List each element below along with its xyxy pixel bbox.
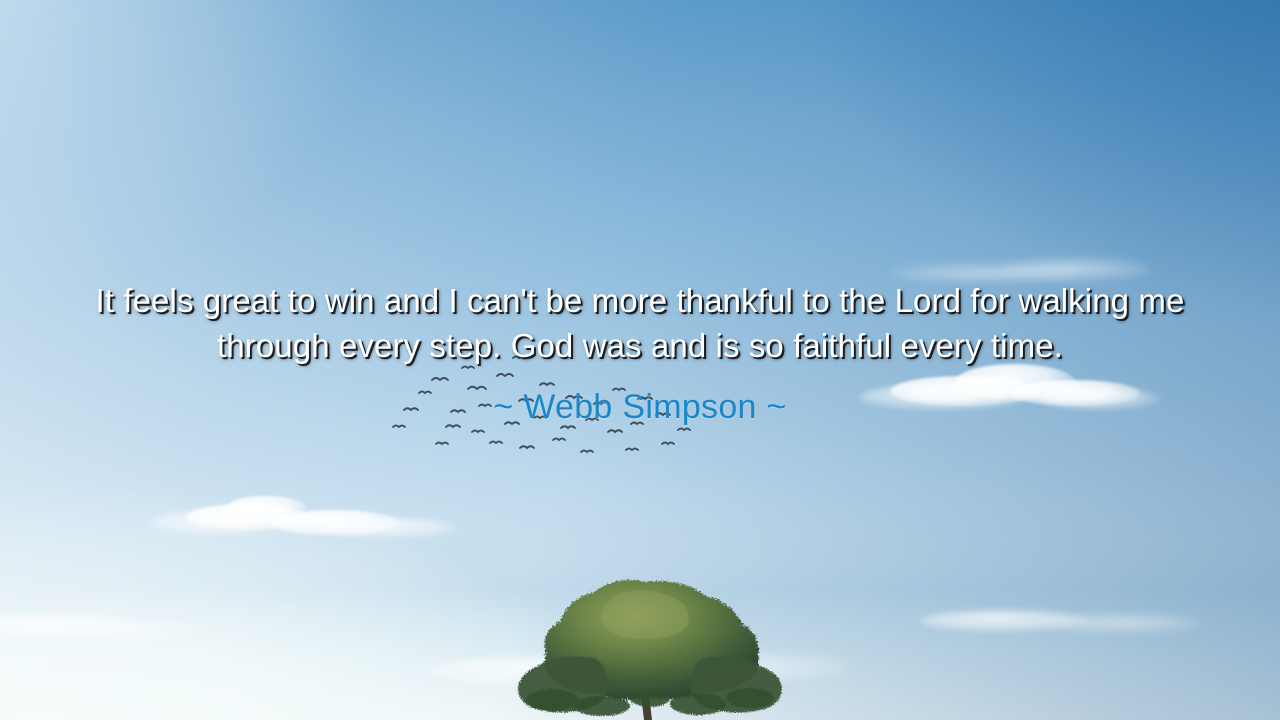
quote-overlay: It feels great to win and I can't be mor… (0, 278, 1280, 428)
quote-text: It feels great to win and I can't be mor… (80, 278, 1200, 368)
quote-image-canvas: It feels great to win and I can't be mor… (0, 0, 1280, 720)
oak-tree-silhouette (498, 574, 802, 720)
quote-author: ~ Webb Simpson ~ (48, 386, 1232, 428)
